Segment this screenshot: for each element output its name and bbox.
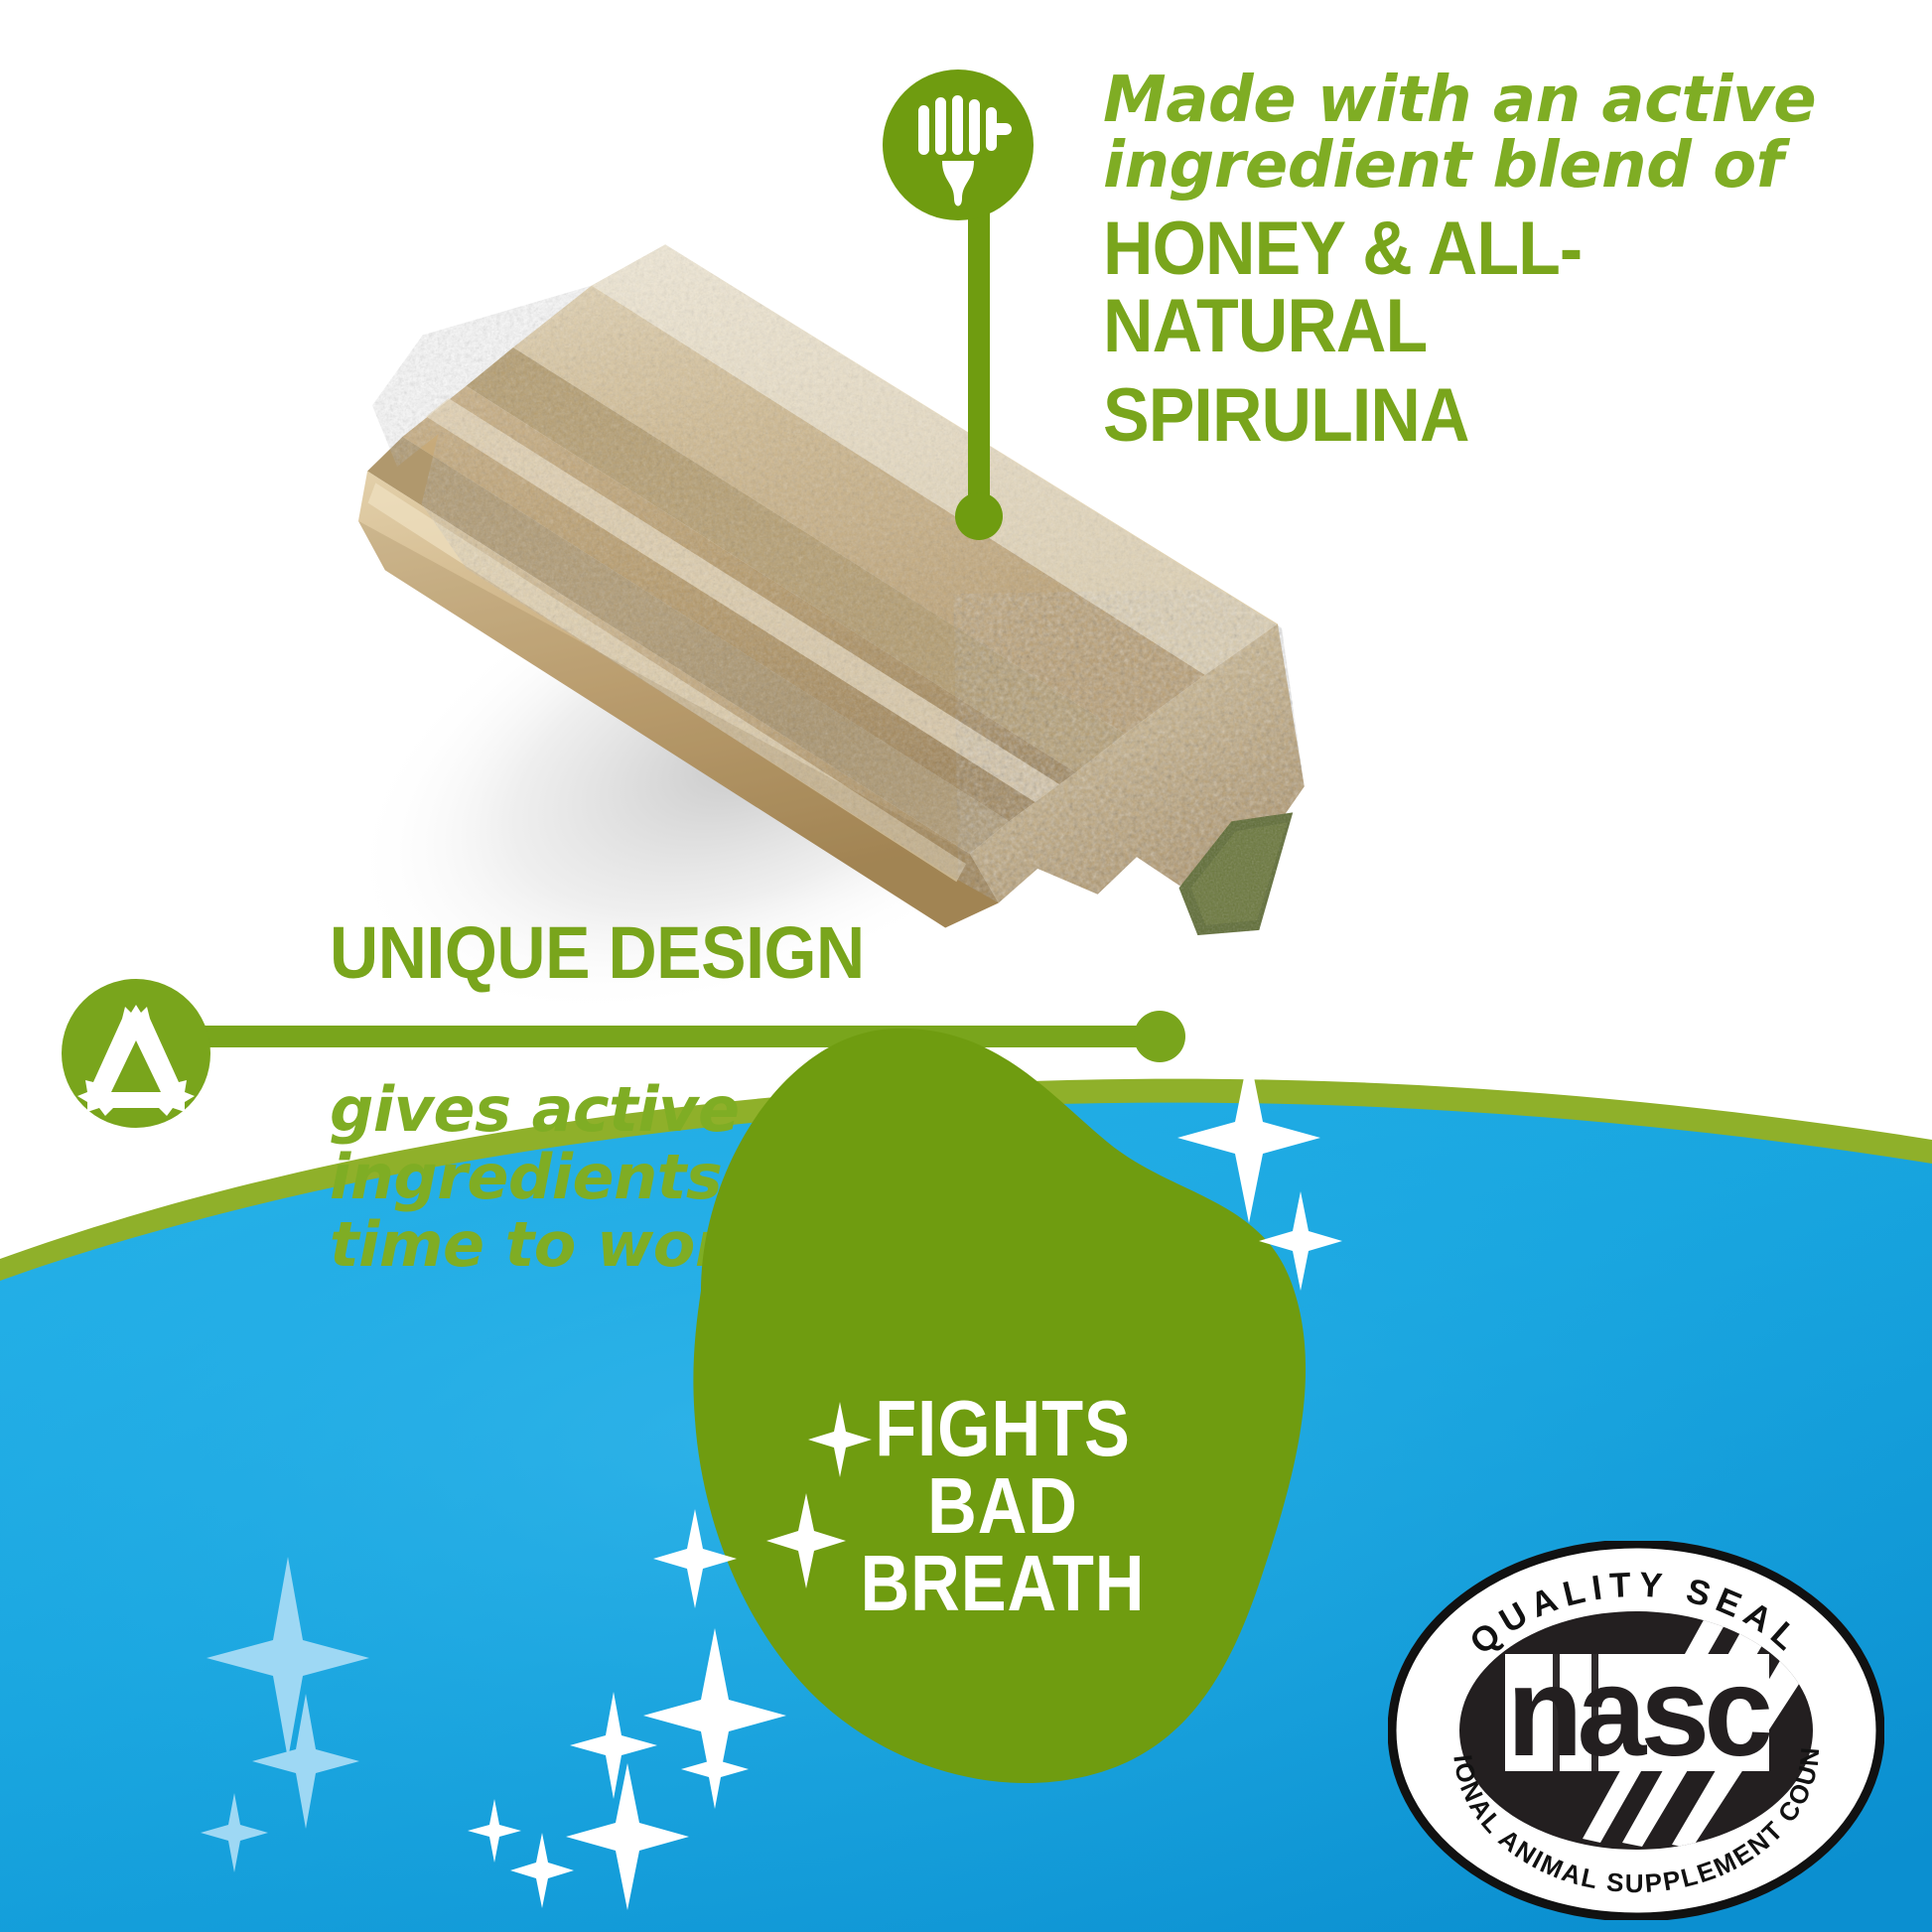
product-feature-graphic: Made with an active ingredient blend of … xyxy=(0,0,1932,1932)
blue-field-sparkles xyxy=(201,1557,369,1872)
fights-bad-breath-text: FIGHTS BAD BREATH xyxy=(823,1390,1181,1622)
badge-line-2: BAD xyxy=(823,1467,1181,1545)
seal-wordmark: nasc xyxy=(1505,1640,1770,1782)
seal-wordmark-text: nasc xyxy=(1507,1640,1770,1782)
nasc-quality-seal: nasc QUALITY SEAL NATIONAL ANIMAL SUPPLE… xyxy=(1388,1541,1884,1920)
badge-line-1: FIGHTS xyxy=(823,1390,1181,1467)
badge-line-3: BREATH xyxy=(823,1545,1181,1622)
